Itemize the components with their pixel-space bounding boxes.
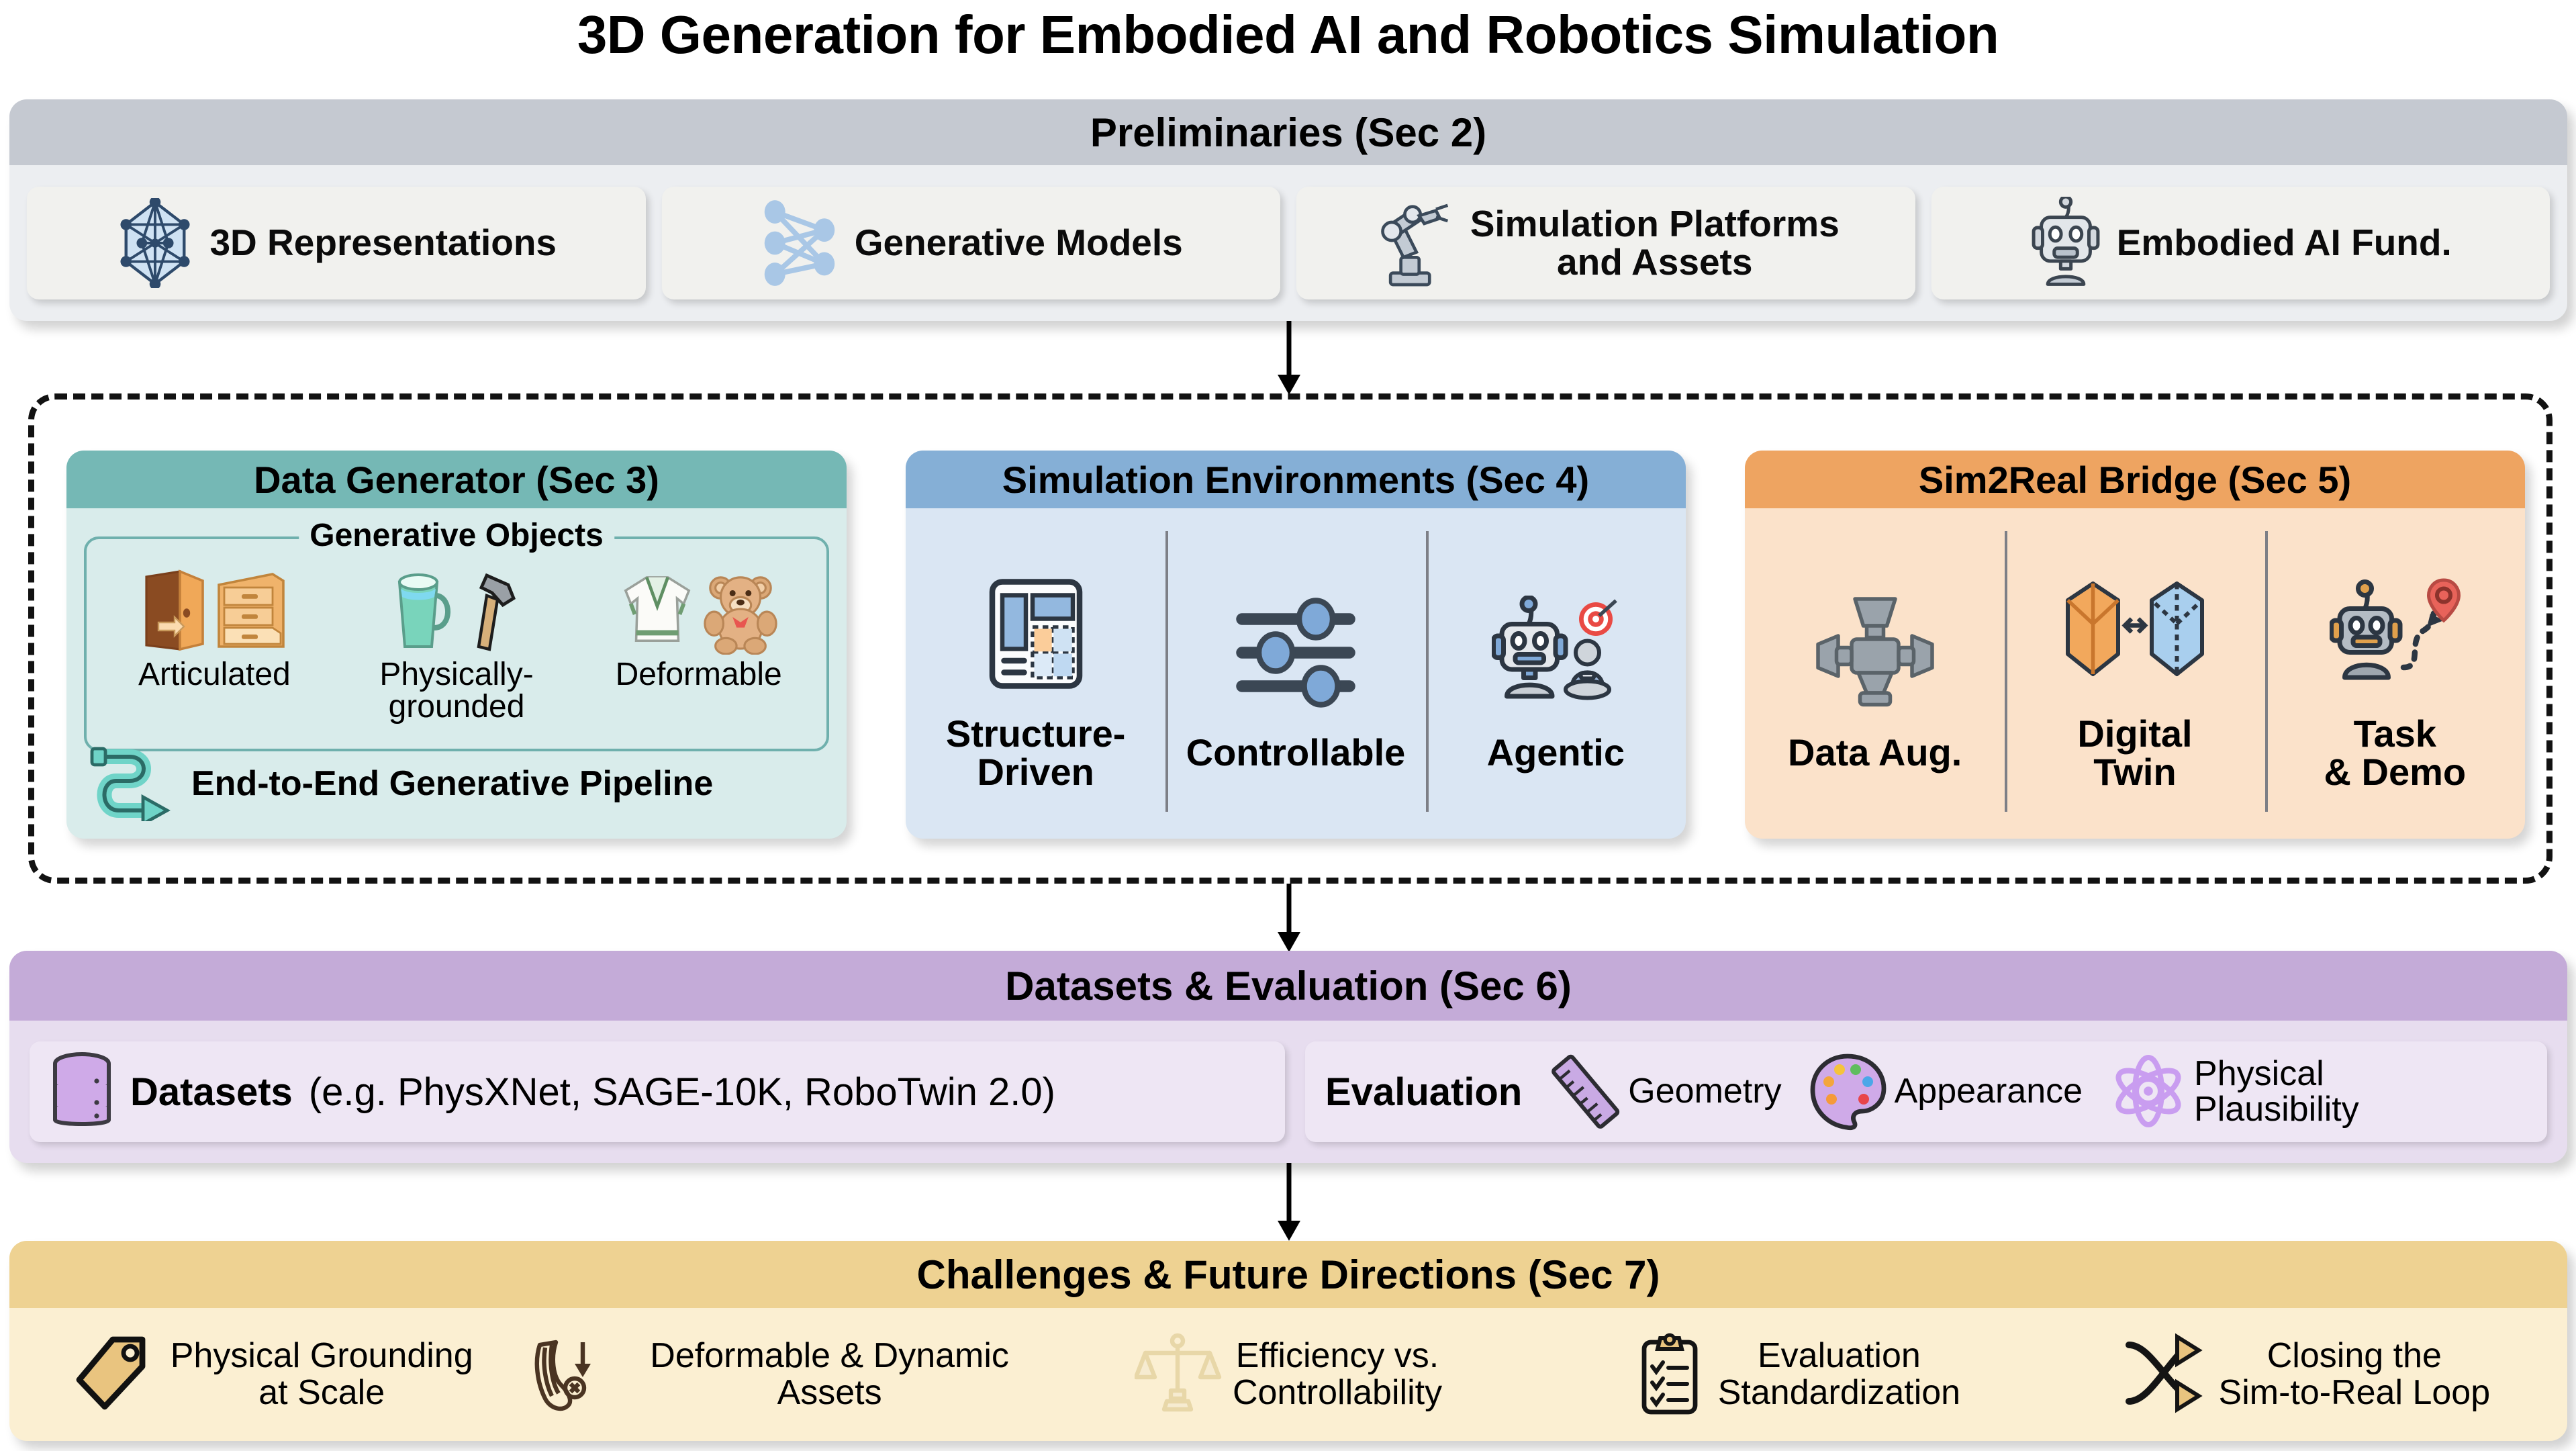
arrow-pipeline-to-datasets [1262,884,1316,953]
sim2real-label-line2: & Demo [2324,751,2467,793]
robot-path-pin-icon [2330,577,2461,691]
paint-palette-icon [1810,1052,1887,1131]
prelim-card-label: 3D Representations [209,224,557,262]
challenge-item-physical-grounding[interactable]: Physical Grounding at Scale [19,1331,526,1417]
gen-item-deformable[interactable]: Deformable [577,554,820,691]
challenge-label-line2: Controllability [1233,1373,1442,1412]
sim2real-bridge-section: Sim2Real Bridge (Sec 5) [1745,451,2525,839]
evaluation-metric-label: Geometry [1628,1074,1781,1109]
sim2real-columns: Data Aug. [1745,508,2525,839]
simenv-item-label: Agentic [1487,733,1625,771]
sim2real-bridge-header: Sim2Real Bridge (Sec 5) [1745,451,2525,508]
page-title: 3D Generation for Embodied AI and Roboti… [0,4,2576,66]
evaluation-metric-label-line2: Plausibility [2194,1090,2359,1129]
simulation-environments-header: Simulation Environments (Sec 4) [906,451,1686,508]
challenge-item-label: Evaluation Standardization [1718,1338,1960,1411]
simenv-item-structure-driven[interactable]: Structure- Driven [906,508,1165,839]
evaluation-metric-geometry[interactable]: Geometry [1550,1052,1781,1131]
datasets-evaluation-section: Datasets & Evaluation (Sec 6) [9,951,2567,1163]
gen-item-label: Physically- grounded [379,659,533,723]
datasets-evaluation-row: Datasets (e.g. PhysXNet, SAGE-10K, RoboT… [9,1021,2567,1163]
preliminaries-card-row: 3D Representations Generative Models [9,165,2567,321]
datasets-examples: (e.g. PhysXNet, SAGE-10K, RoboTwin 2.0) [309,1070,1055,1115]
challenge-item-efficiency-vs-controllability[interactable]: Efficiency vs. Controllability [1035,1331,1542,1417]
gen-item-label: Articulated [138,659,291,691]
simenv-label-line1: Structure- [946,712,1126,755]
challenge-item-label: Closing the Sim-to-Real Loop [2219,1338,2491,1411]
sim2real-item-digital-twin[interactable]: Digital Twin [2005,508,2264,839]
robot-agent-target-icon [1492,596,1619,710]
ruler-icon [1550,1052,1620,1131]
challenge-label-line2: Sim-to-Real Loop [2219,1373,2491,1412]
challenge-label-line1: Evaluation [1758,1336,1921,1375]
hammer-icon [460,569,524,655]
challenge-item-deformable-dynamic-assets[interactable]: Deformable & Dynamic Assets [526,1331,1034,1417]
challenge-label-line2: at Scale [258,1373,385,1412]
challenge-item-closing-sim-to-real-loop[interactable]: Closing the Sim-to-Real Loop [2050,1331,2558,1417]
studio-light-camera-icon [1815,596,1936,710]
gen-item-label: Deformable [616,659,782,691]
challenges-header: Challenges & Future Directions (Sec 7) [9,1241,2567,1308]
challenge-item-label: Deformable & Dynamic Assets [624,1338,1034,1411]
generative-objects-group: Generative Objects [84,536,829,751]
sim2real-label-line2: Twin [2093,751,2176,793]
gen-label-line1: Physically- [379,657,533,692]
challenge-label-line2: Standardization [1718,1373,1960,1412]
end-to-end-pipeline-label: End-to-End Generative Pipeline [191,763,713,804]
cloth-drop-icon [526,1331,614,1417]
simenv-label-line1: Agentic [1487,731,1625,774]
prelim-card-simulation-platforms[interactable]: Simulation Platforms and Assets [1296,187,1915,299]
evaluation-metric-label-line1: Physical [2194,1054,2324,1093]
prelim-card-label: Simulation Platforms and Assets [1470,205,1840,281]
simenv-label-line2: Driven [977,751,1094,793]
simenv-item-label: Structure- Driven [946,714,1126,791]
mesh-graph-icon [115,198,195,288]
datasets-evaluation-header: Datasets & Evaluation (Sec 6) [9,951,2567,1021]
open-door-icon [140,569,209,655]
prelim-label-line2: and Assets [1557,241,1752,283]
gen-label-line2: grounded [389,689,525,724]
challenges-row: Physical Grounding at Scale [9,1308,2567,1441]
simenv-item-agentic[interactable]: Agentic [1426,508,1686,839]
evaluation-metric-appearance[interactable]: Appearance [1810,1052,2083,1131]
sim2real-item-label: Data Aug. [1788,733,1962,771]
sweater-icon [618,569,697,655]
sim2real-label-line1: Digital [2077,712,2192,755]
prelim-card-label: Embodied AI Fund. [2117,224,2452,262]
prelim-card-embodied-ai-fund[interactable]: Embodied AI Fund. [1931,187,2550,299]
simulation-environments-section: Simulation Environments (Sec 4) [906,451,1686,839]
sim2real-item-label: Digital Twin [2077,714,2192,791]
prelim-card-3d-representations[interactable]: 3D Representations [27,187,646,299]
pipe-loop-icon [89,746,174,821]
datasets-label: Datasets [130,1070,293,1115]
data-generator-section: Data Generator (Sec 3) Generative Object… [66,451,847,839]
simulation-environments-columns: Structure- Driven [906,508,1686,839]
evaluation-metric-label: Physical Plausibility [2194,1056,2359,1127]
preliminaries-header: Preliminaries (Sec 2) [9,99,2567,165]
simenv-item-label: Controllable [1186,733,1406,771]
challenge-item-evaluation-standardization[interactable]: Evaluation Standardization [1542,1331,2050,1417]
teddy-bear-icon [701,569,780,655]
clipboard-check-icon [1632,1331,1707,1417]
sliders-icon [1229,596,1363,710]
sim2real-item-data-aug[interactable]: Data Aug. [1745,508,2005,839]
challenge-label-line1: Physical Grounding [171,1336,473,1375]
prelim-card-label: Generative Models [855,224,1183,262]
datasets-card[interactable]: Datasets (e.g. PhysXNet, SAGE-10K, RoboT… [30,1041,1285,1142]
balance-scale-icon [1135,1331,1222,1417]
drawer-cabinet-icon [213,569,289,655]
end-to-end-pipeline-row[interactable]: End-to-End Generative Pipeline [89,745,828,823]
preliminaries-section: Preliminaries (Sec 2) [9,99,2567,321]
mug-icon [389,569,456,655]
core-pipeline-group: Data Generator (Sec 3) Generative Object… [28,393,2553,884]
generative-objects-legend: Generative Objects [299,517,614,554]
arrow-datasets-to-challenges [1262,1163,1316,1242]
robot-icon [2030,197,2102,289]
sim2real-label-line1: Task [2354,712,2436,755]
prelim-label-line1: Simulation Platforms [1470,203,1840,244]
database-icon [50,1051,114,1132]
challenge-label-line1: Closing the [2267,1336,2442,1375]
prelim-card-generative-models[interactable]: Generative Models [662,187,1281,299]
robot-arm-icon [1372,197,1456,289]
sim2real-item-label: Task & Demo [2324,714,2467,791]
challenges-section: Challenges & Future Directions (Sec 7) P… [9,1241,2567,1441]
sim2real-item-task-demo[interactable]: Task & Demo [2265,508,2525,839]
data-generator-header: Data Generator (Sec 3) [66,451,847,508]
evaluation-metric-physical-plausibility[interactable]: Physical Plausibility [2111,1052,2359,1131]
challenge-label-line1: Efficiency vs. [1236,1336,1439,1375]
evaluation-metric-label: Appearance [1895,1074,2083,1109]
cross-arrows-icon [2118,1331,2208,1417]
twin-cubes-icon [2064,577,2205,691]
challenge-item-label: Physical Grounding at Scale [171,1338,473,1411]
sim2real-label-line1: Data Aug. [1788,731,1962,774]
gen-item-physically-grounded[interactable]: Physically- grounded [336,554,578,723]
evaluation-label: Evaluation [1325,1070,1522,1115]
neural-network-icon [759,199,840,287]
layout-blueprint-icon [986,577,1086,691]
gen-item-articulated[interactable]: Articulated [93,554,336,691]
tag-icon [73,1331,160,1417]
challenge-item-label: Efficiency vs. Controllability [1233,1338,1442,1411]
atom-icon [2111,1052,2186,1131]
evaluation-card[interactable]: Evaluation Ge [1305,1041,2547,1142]
challenge-label-line1: Deformable & Dynamic Assets [650,1336,1009,1412]
simenv-label-line1: Controllable [1186,731,1406,774]
arrow-prelim-to-pipeline [1262,321,1316,396]
simenv-item-controllable[interactable]: Controllable [1165,508,1425,839]
diagram-canvas: 3D Generation for Embodied AI and Roboti… [0,0,2576,1451]
